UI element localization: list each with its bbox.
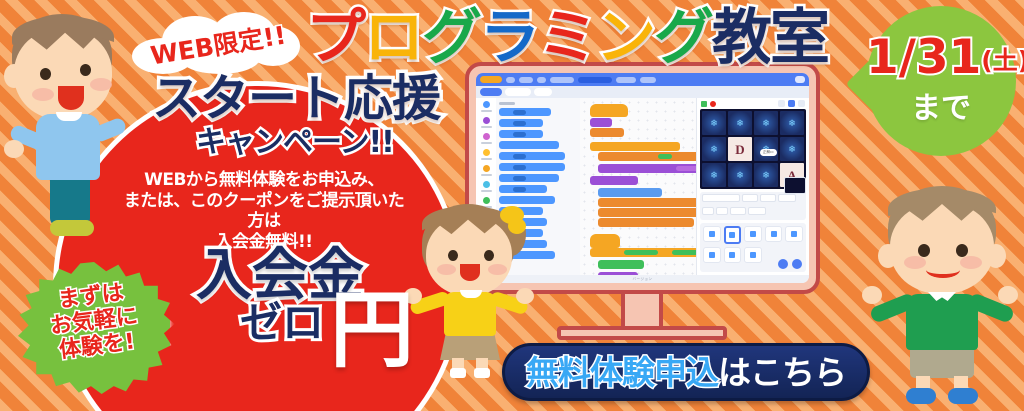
- tutorials-menu[interactable]: [550, 77, 574, 83]
- green-flag-icon[interactable]: [701, 101, 707, 107]
- hand: [998, 286, 1018, 304]
- cheek: [437, 264, 456, 275]
- palette-block[interactable]: [499, 119, 543, 127]
- sock: [450, 368, 466, 378]
- tab-sounds[interactable]: [534, 88, 552, 96]
- sprite-thumb-selected[interactable]: [724, 226, 742, 244]
- shoe: [948, 388, 978, 404]
- script-block[interactable]: [598, 198, 696, 207]
- title-char: ン: [596, 3, 654, 73]
- add-backdrop-button[interactable]: [778, 259, 788, 269]
- sprite-thumb[interactable]: [744, 247, 762, 263]
- headline-start-support: スタート応援: [152, 74, 440, 123]
- deadline-day-of-week: (土): [981, 46, 1024, 75]
- title-char: グ: [654, 3, 712, 73]
- face: [890, 202, 994, 294]
- deadline-date-value: 1/31: [866, 30, 981, 85]
- stage-thumbnail[interactable]: [784, 177, 806, 194]
- coupon-line-2: または、このクーポンをご提示頂いた方は: [118, 191, 410, 232]
- web-only-badge: WEB限定!!: [128, 12, 303, 74]
- casual-trial-badge: まずは お気軽に 体験を!: [18, 262, 170, 394]
- add-sprite-button[interactable]: [792, 259, 802, 269]
- tab-code[interactable]: [480, 88, 502, 96]
- category-sound[interactable]: [483, 133, 490, 140]
- script-block[interactable]: [598, 272, 638, 275]
- script-block[interactable]: [598, 188, 662, 197]
- page-title: プログラミング教室: [306, 8, 828, 68]
- price-yen-unit: 円: [330, 288, 414, 372]
- script-block[interactable]: [598, 218, 694, 227]
- large-stage-icon[interactable]: [788, 100, 795, 107]
- palette-block[interactable]: [499, 141, 559, 149]
- pants: [50, 174, 90, 226]
- category-label: [481, 174, 492, 176]
- ribbon: [508, 218, 526, 234]
- free-trial-cta-button[interactable]: 無料体験申込はこちら: [502, 343, 870, 401]
- category-label: [481, 158, 492, 160]
- cta-rest: はこちら: [718, 353, 846, 392]
- script-field: [672, 250, 696, 255]
- category-events[interactable]: [483, 149, 490, 156]
- scratch-menubar: [476, 73, 809, 86]
- card-back[interactable]: ❄: [702, 137, 726, 161]
- headline-campaign: キャンペーン!!: [196, 128, 394, 158]
- tab-costumes[interactable]: [505, 88, 531, 96]
- card-back[interactable]: ❄: [728, 163, 752, 187]
- sprite-show-toggle[interactable]: [778, 194, 796, 202]
- category-looks[interactable]: [483, 117, 490, 124]
- hand: [862, 286, 882, 304]
- monitor-neck: [621, 294, 663, 328]
- category-control[interactable]: [483, 165, 490, 172]
- mouth: [58, 86, 84, 110]
- deadline-suffix: まで: [866, 94, 1016, 124]
- sprite-extra-field[interactable]: [748, 207, 766, 215]
- version-label: バージョン: [633, 277, 653, 282]
- shoes: [50, 220, 94, 236]
- script-canvas[interactable]: [580, 98, 696, 275]
- sprite-direction-input[interactable]: [716, 207, 728, 215]
- eye: [918, 244, 930, 257]
- shirt: [444, 292, 496, 336]
- eye: [956, 244, 968, 257]
- face: [426, 216, 512, 296]
- sprite-thumb[interactable]: [744, 226, 762, 242]
- category-label: [481, 110, 492, 112]
- script-block[interactable]: [598, 152, 696, 161]
- cta-highlight: 無料体験申込: [526, 353, 718, 392]
- cheek: [904, 256, 926, 269]
- script-block[interactable]: [598, 208, 696, 217]
- palette-section-header: [499, 102, 515, 105]
- price-zero: ゼロ: [240, 302, 324, 344]
- sprite-size-input[interactable]: [702, 207, 714, 215]
- title-char: ミ: [538, 3, 596, 73]
- eye: [40, 68, 51, 80]
- script-field: [676, 166, 696, 171]
- palette-block[interactable]: [499, 174, 559, 182]
- see-project-page-button[interactable]: [640, 77, 656, 83]
- small-stage-icon[interactable]: [778, 100, 785, 107]
- cheek: [960, 256, 982, 269]
- cheek: [32, 88, 54, 101]
- scratch-tabbar: [476, 86, 809, 98]
- hand: [4, 140, 24, 158]
- fullscreen-icon[interactable]: [798, 100, 805, 107]
- mouth: [926, 262, 960, 278]
- cheek: [90, 78, 112, 91]
- avatar[interactable]: [795, 76, 805, 83]
- character-boy-right: [862, 182, 1024, 411]
- shoe: [906, 388, 936, 404]
- card-back[interactable]: ❄: [754, 111, 778, 135]
- script-block[interactable]: [590, 142, 680, 151]
- script-field: [624, 250, 658, 255]
- card-back[interactable]: ❄: [728, 111, 752, 135]
- sock: [474, 368, 490, 378]
- title-char: グ: [422, 3, 480, 73]
- monitor-base: [557, 326, 727, 340]
- deadline-badge: 1/31(土) まで: [866, 6, 1016, 156]
- edit-menu[interactable]: [537, 77, 546, 83]
- category-motion[interactable]: [483, 101, 490, 108]
- sprite-thumb[interactable]: [703, 247, 721, 263]
- script-block-hat[interactable]: [590, 234, 620, 248]
- sprite-name-input[interactable]: [702, 194, 740, 202]
- title-char: ラ: [480, 3, 538, 73]
- palette-block[interactable]: [499, 130, 543, 138]
- title-char: 室: [770, 3, 828, 73]
- card-back[interactable]: ❄: [702, 111, 726, 135]
- share-button[interactable]: [616, 77, 636, 83]
- shirt: [36, 114, 100, 180]
- stage-controls: [697, 98, 809, 109]
- sprite-thumb[interactable]: [765, 226, 783, 242]
- category-label: [481, 126, 492, 128]
- eye: [484, 250, 494, 261]
- scratch-logo: [480, 76, 502, 83]
- palette-block[interactable]: [499, 185, 547, 193]
- category-label: [481, 190, 492, 192]
- script-block[interactable]: [590, 118, 612, 127]
- script-block-hat[interactable]: [590, 104, 628, 117]
- character-boy-left: [0, 12, 126, 242]
- language-menu[interactable]: [506, 77, 515, 83]
- sprite-list[interactable]: [700, 223, 806, 272]
- card-back[interactable]: ❄: [702, 163, 726, 187]
- stage-and-sprite-panel: ❄ ❄ ❄ ❄ ❄ D ❄ ❄ ❄ ❄ ❄ A 正解・・・: [696, 98, 809, 275]
- speech-bubble: 正解・・・: [760, 149, 777, 156]
- category-sensing[interactable]: [483, 181, 490, 188]
- sprite-thumb[interactable]: [703, 226, 721, 242]
- script-block[interactable]: [598, 260, 644, 269]
- sprite-y-input[interactable]: [760, 194, 776, 202]
- mouth: [460, 264, 480, 281]
- skirt: [440, 332, 500, 360]
- sprite-extra-field[interactable]: [730, 207, 746, 215]
- palette-block[interactable]: [499, 152, 565, 160]
- card-face-d[interactable]: D: [728, 137, 752, 161]
- deadline-date: 1/31(土): [866, 34, 1016, 81]
- eye: [80, 64, 91, 76]
- promo-banner: ❄ ❄ ❄ ❄ ❄ D ❄ ❄ ❄ ❄ ❄ A 正解・・・: [0, 0, 1024, 411]
- coupon-description: WEBから無料体験をお申込み、 または、このクーポンをご提示頂いた方は 入会金無…: [118, 170, 410, 253]
- script-block[interactable]: [590, 176, 638, 185]
- palette-block[interactable]: [499, 108, 551, 116]
- card-back[interactable]: ❄: [780, 111, 804, 135]
- script-field: [658, 154, 672, 159]
- sprite-info-panel: [700, 192, 806, 220]
- title-char: プ: [306, 3, 364, 73]
- project-name-input[interactable]: [578, 77, 612, 83]
- hand: [516, 288, 534, 304]
- coupon-line-1: WEBから無料体験をお申込み、: [118, 170, 410, 191]
- category-label: [481, 142, 492, 144]
- stop-icon[interactable]: [710, 101, 716, 107]
- title-char: ロ: [364, 3, 422, 73]
- shirt: [906, 294, 978, 350]
- eye: [448, 250, 458, 261]
- sprite-x-input[interactable]: [742, 194, 758, 202]
- palette-block[interactable]: [499, 163, 565, 171]
- file-menu[interactable]: [519, 77, 533, 83]
- sprite-thumb[interactable]: [724, 247, 742, 263]
- script-block[interactable]: [590, 128, 624, 137]
- cta-label: 無料体験申込はこちら: [526, 356, 846, 389]
- card-back[interactable]: ❄: [754, 163, 778, 187]
- cheek: [488, 264, 507, 275]
- title-char: 教: [712, 3, 770, 73]
- sprite-thumb[interactable]: [785, 226, 803, 242]
- card-back[interactable]: ❄: [780, 137, 804, 161]
